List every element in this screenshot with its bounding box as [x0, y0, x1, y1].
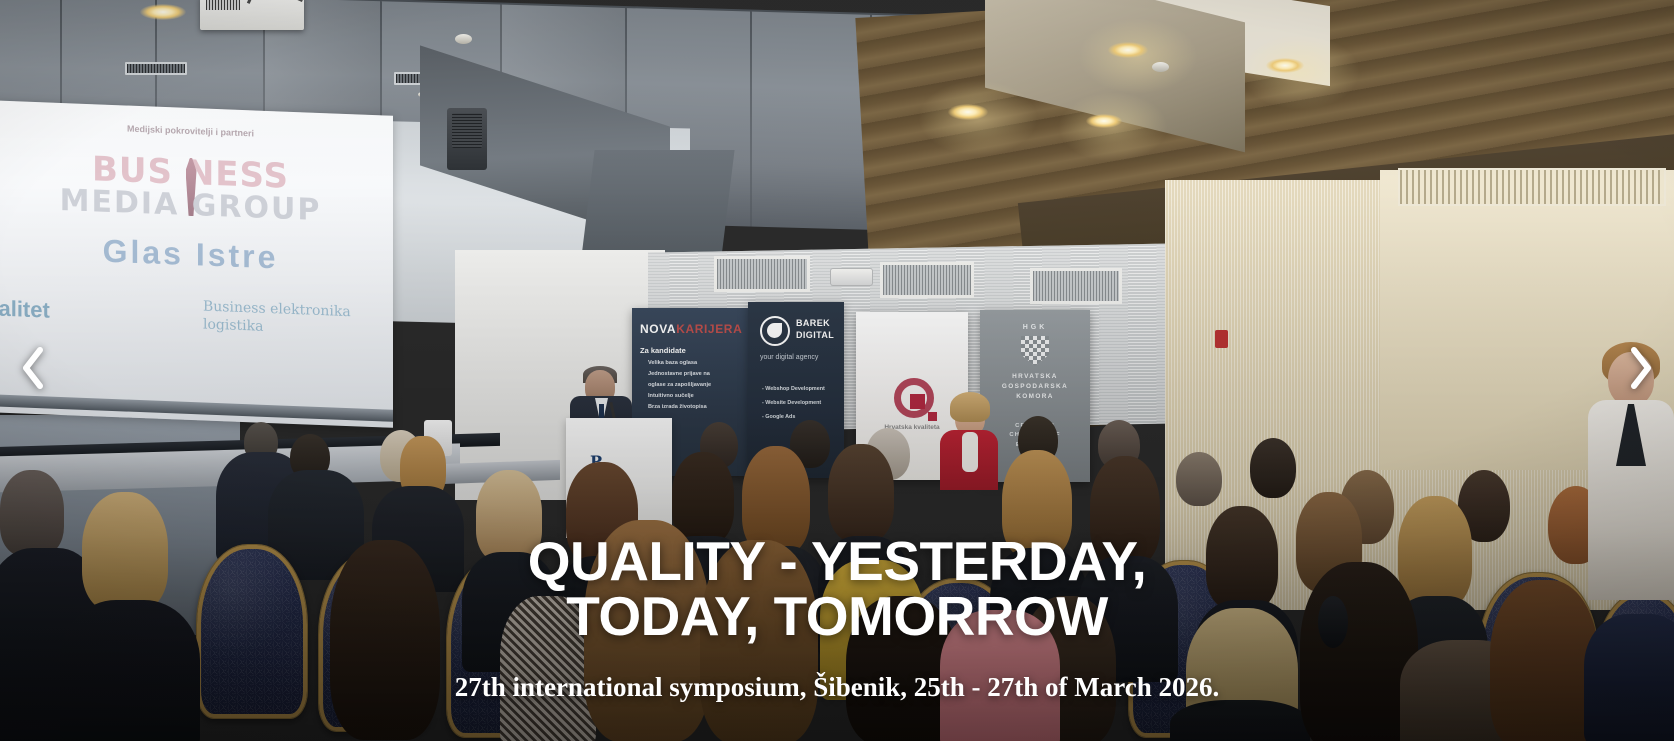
chevron-left-icon — [20, 346, 46, 395]
hgk-monogram: HGK — [980, 324, 1090, 331]
ceiling-vent — [125, 62, 187, 75]
page-title: QUALITY - YESTERDAY, TODAY, TOMORROW — [457, 534, 1217, 644]
attendee-hair — [950, 392, 990, 422]
list-item: oglase za zapošljavanje — [648, 382, 711, 388]
chevron-right-icon — [1628, 346, 1654, 395]
banner-title-line1: BAREK — [796, 318, 830, 328]
list-item: - Google Ads — [762, 414, 825, 420]
ceiling-downlight-icon — [1086, 114, 1122, 128]
quality-square-small-icon — [928, 412, 937, 421]
banner-subtitle: your digital agency — [760, 354, 818, 361]
ceiling-downlight-icon — [948, 104, 988, 120]
screen-logo-glas-istre: Glas Istre — [0, 228, 393, 281]
carousel-next-button[interactable] — [1614, 344, 1668, 398]
fire-alarm-icon — [1215, 330, 1228, 348]
list-item: Jednostavne prijave na — [648, 371, 711, 377]
ceiling-downlight-icon — [140, 4, 186, 20]
screen-logo-business: Business elektronika logistika — [203, 298, 393, 340]
screen-header-text: Medijski pokrovitelji i partneri — [0, 118, 393, 144]
hgk-title-croatian: HRVATSKA GOSPODARSKA KOMORA — [980, 372, 1090, 402]
croatian-checkerboard-icon — [1021, 336, 1049, 366]
screen-logo-kvalitet: kvalitet — [0, 295, 50, 324]
attendee-head — [828, 444, 894, 542]
wall-speaker — [447, 108, 487, 170]
list-item: Intuitivno sučelje — [648, 393, 711, 399]
air-vent-grille — [1030, 268, 1122, 304]
smoke-detector-icon — [455, 34, 472, 44]
attendee-body — [1170, 700, 1310, 741]
smoke-detector-icon — [1152, 62, 1169, 72]
air-vent-grille — [714, 256, 810, 292]
barek-logo-icon — [760, 316, 790, 346]
carousel-prev-button[interactable] — [6, 344, 60, 398]
air-vent-grille — [1398, 168, 1666, 206]
hero-carousel-slide: Medijski pokrovitelji i partneri BUS NES… — [0, 0, 1674, 741]
attendee-head — [1176, 452, 1222, 506]
slide-caption: QUALITY - YESTERDAY, TODAY, TOMORROW 27t… — [0, 534, 1674, 703]
list-item: Velika baza oglasa — [648, 360, 711, 366]
banner-title: NOVAKARIJERA — [640, 322, 742, 336]
banner-subtitle: Za kandidate — [640, 346, 686, 355]
ceiling-downlight-icon — [1108, 42, 1148, 58]
attendee-white-top — [962, 432, 978, 472]
slide-subtitle: 27th international symposium, Šibenik, 2… — [120, 672, 1554, 703]
list-item: - Webshop Development — [762, 386, 825, 392]
emergency-light — [830, 268, 873, 286]
air-vent-grille — [880, 262, 974, 298]
banner-title-line2: DIGITAL — [796, 330, 834, 340]
quality-square-icon — [910, 394, 925, 409]
attendee-head — [1250, 438, 1296, 498]
ceiling-downlight-icon — [1266, 58, 1304, 73]
banner-bullet-list: Velika baza oglasa Jednostavne prijave n… — [648, 360, 711, 415]
list-item: Brza izrada životopisa — [648, 404, 711, 410]
list-item: - Website Development — [762, 400, 825, 406]
